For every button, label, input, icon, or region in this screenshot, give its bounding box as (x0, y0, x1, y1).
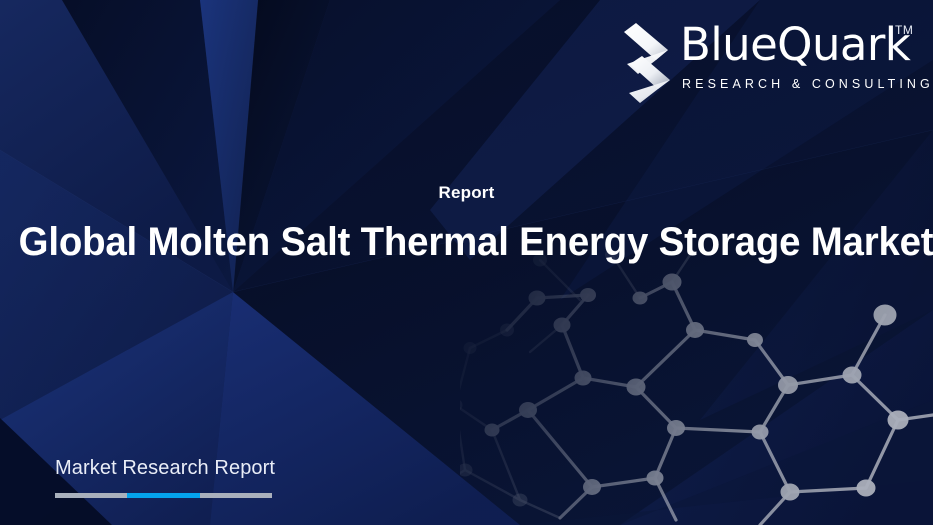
accent-bar-segment-left (55, 493, 127, 498)
accent-bar (55, 493, 272, 498)
title-block: Report Global Molten Salt Thermal Energy… (0, 182, 933, 266)
trademark-symbol: TM (895, 23, 913, 37)
accent-bar-segment-middle (127, 493, 200, 498)
accent-bar-segment-right (200, 493, 272, 498)
report-kicker: Report (0, 182, 933, 204)
brand-name: BlueQuark (680, 16, 918, 74)
bluequark-chevron-mark-icon (618, 20, 676, 108)
brand-logo: BlueQuark RESEARCH & CONSULTING TM (618, 16, 918, 110)
report-cover-page: BlueQuark RESEARCH & CONSULTING TM Repor… (0, 0, 933, 525)
page-title: Global Molten Salt Thermal Energy Storag… (19, 218, 915, 266)
brand-tagline: RESEARCH & CONSULTING (682, 75, 918, 93)
footer-block: Market Research Report (55, 455, 415, 498)
brand-wordmark: BlueQuark RESEARCH & CONSULTING (680, 16, 918, 93)
footer-label: Market Research Report (55, 455, 415, 481)
